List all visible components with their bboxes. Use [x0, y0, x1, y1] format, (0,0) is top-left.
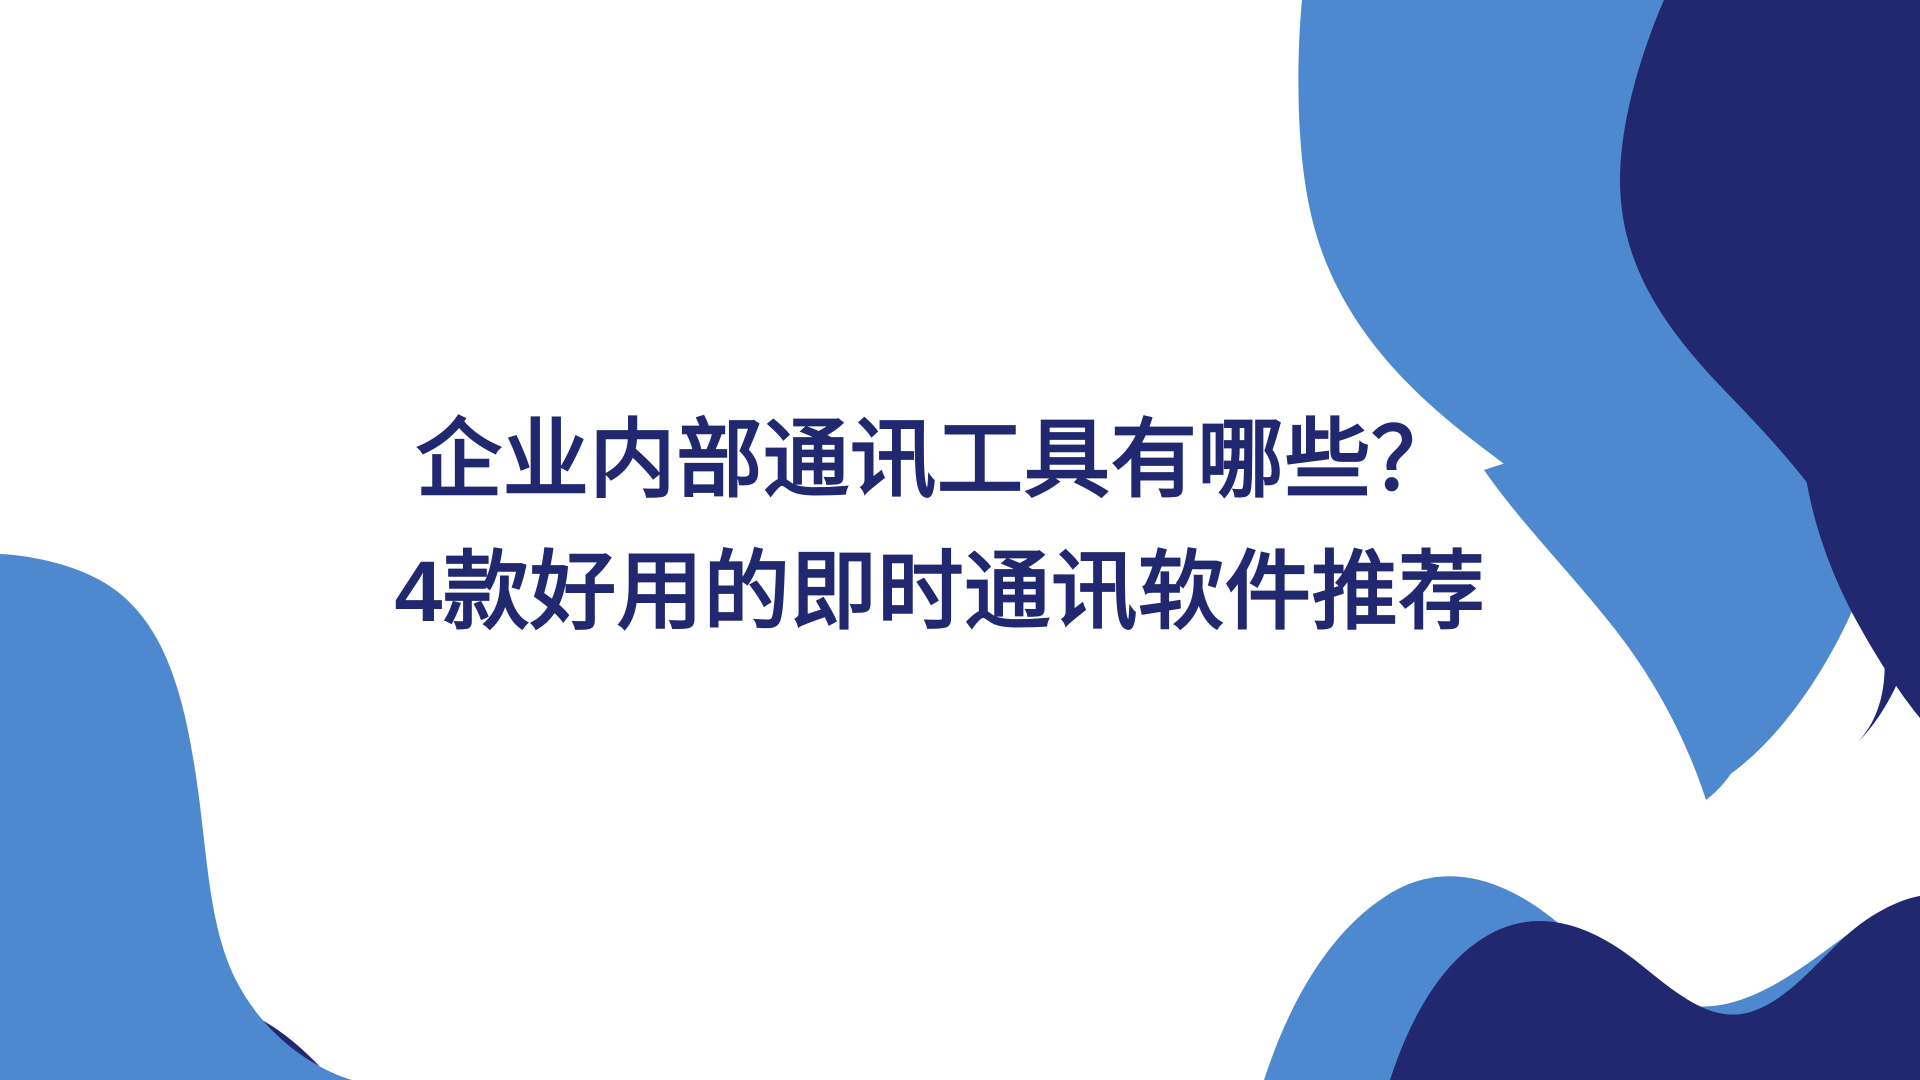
bottom-right-light-blue-wave-shape	[1264, 876, 1920, 1080]
bottom-left-navy-sweep	[0, 993, 660, 1080]
slide-canvas: 企业内部通讯工具有哪些？ 4款好用的即时通讯软件推荐	[0, 0, 1920, 1080]
title-line-1: 企业内部通讯工具有哪些？	[0, 394, 1920, 526]
title-line-2: 4款好用的即时通讯软件推荐	[0, 526, 1920, 658]
bottom-left-navy-ridge	[0, 996, 660, 1080]
bottom-right-navy-wave-shape	[1390, 896, 1920, 1080]
page-title: 企业内部通讯工具有哪些？ 4款好用的即时通讯软件推荐	[0, 394, 1920, 658]
bottom-left-navy-blob-shape	[0, 996, 352, 1080]
